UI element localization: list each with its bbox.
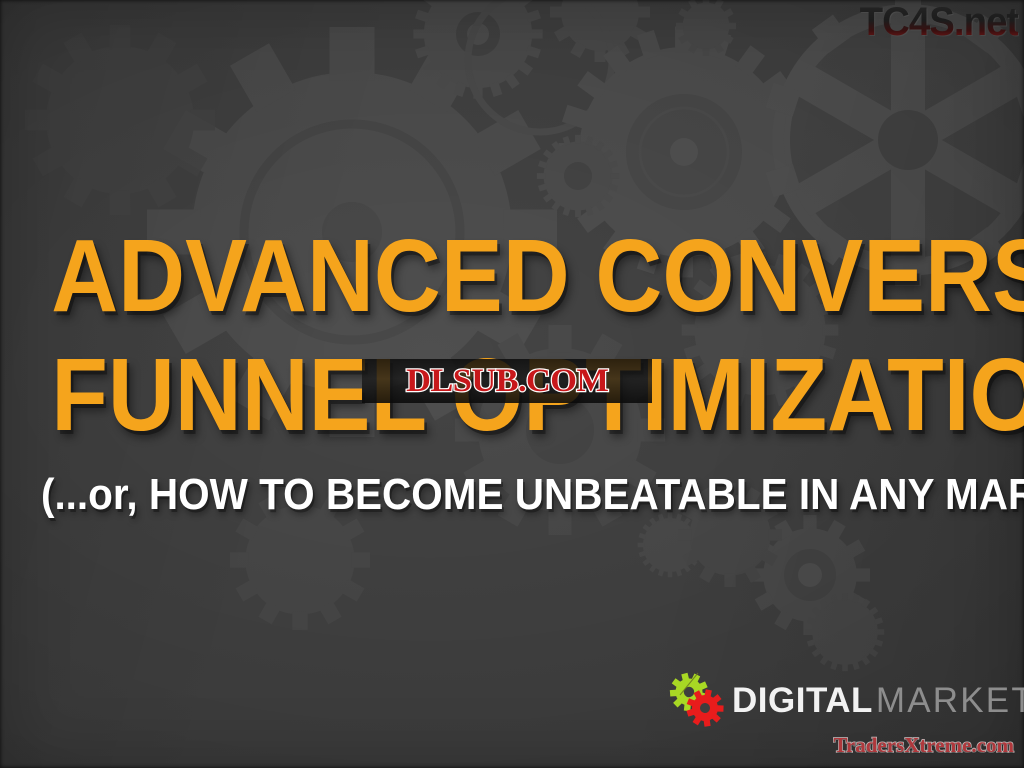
two-interlocking-gears-icon bbox=[668, 671, 730, 729]
digital-marketer-logo: DIGITAL MARKETER bbox=[668, 672, 1024, 728]
tc4s-watermark-text: TC4S.net bbox=[859, 2, 1018, 42]
tradersxtreme-watermark-text: TradersXtreme.com bbox=[833, 735, 1014, 756]
title-line-1: ADVANCED CONVERSION bbox=[51, 226, 973, 327]
page-subtitle: (...or, HOW TO BECOME UNBEATABLE IN ANY … bbox=[41, 473, 983, 517]
page-title: ADVANCED CONVERSION FUNNEL OPTIMIZATION bbox=[0, 226, 1024, 446]
slide-canvas: ADVANCED CONVERSION FUNNEL OPTIMIZATION … bbox=[0, 0, 1024, 768]
dlsub-watermark-text: DLSUB.COM bbox=[406, 363, 608, 400]
logo-word-marketer: MARKETER bbox=[876, 683, 1024, 718]
dlsub-watermark-band: DLSUB.COM bbox=[362, 359, 652, 403]
digital-marketer-wordmark: DIGITAL MARKETER bbox=[732, 683, 1024, 718]
logo-word-digital: DIGITAL bbox=[732, 683, 873, 718]
